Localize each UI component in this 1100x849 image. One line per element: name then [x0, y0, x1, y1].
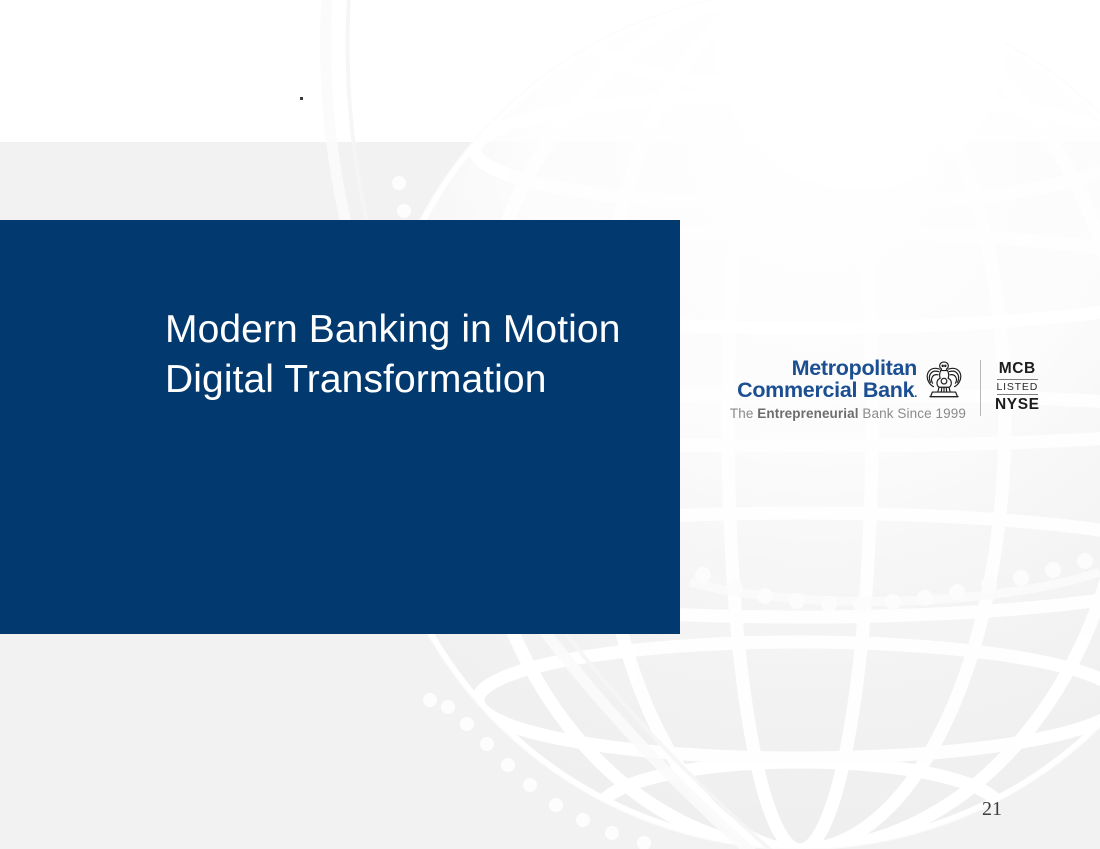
- page-number: 21: [982, 798, 1002, 821]
- badge-ticker: MCB: [999, 360, 1036, 378]
- title-line-1: Modern Banking in Motion: [165, 305, 665, 355]
- stray-dot-artifact: [300, 97, 303, 100]
- badge-status: LISTED: [997, 379, 1039, 395]
- logo-tagline: The Entrepreneurial Bank Since 1999: [730, 406, 966, 421]
- logo-primary: Metropolitan Commercial Bank.: [744, 358, 966, 421]
- tagline-suffix: Bank Since 1999: [859, 406, 966, 421]
- logo-top-row: Metropolitan Commercial Bank.: [737, 358, 966, 401]
- nyse-listing-badge: MCB LISTED NYSE: [995, 360, 1040, 414]
- tagline-bold: Entrepreneurial: [757, 406, 858, 421]
- badge-exchange: NYSE: [995, 396, 1040, 414]
- brand-logo-lockup: Metropolitan Commercial Bank.: [744, 358, 1044, 428]
- title-line-2: Digital Transformation: [165, 355, 665, 405]
- logo-name-line-2: Commercial Bank.: [737, 380, 917, 402]
- logo-divider: [980, 360, 981, 416]
- title-panel: Modern Banking in Motion Digital Transfo…: [0, 220, 680, 634]
- presentation-slide: Modern Banking in Motion Digital Transfo…: [0, 0, 1100, 849]
- logo-registered-mark: .: [914, 388, 917, 400]
- tagline-prefix: The: [730, 406, 757, 421]
- eagle-crest-icon: [922, 359, 966, 401]
- logo-name-line-1: Metropolitan: [792, 358, 917, 380]
- page-title: Modern Banking in Motion Digital Transfo…: [165, 305, 665, 405]
- slide-top-band: [0, 0, 1100, 142]
- logo-wordmark: Metropolitan Commercial Bank.: [737, 358, 917, 401]
